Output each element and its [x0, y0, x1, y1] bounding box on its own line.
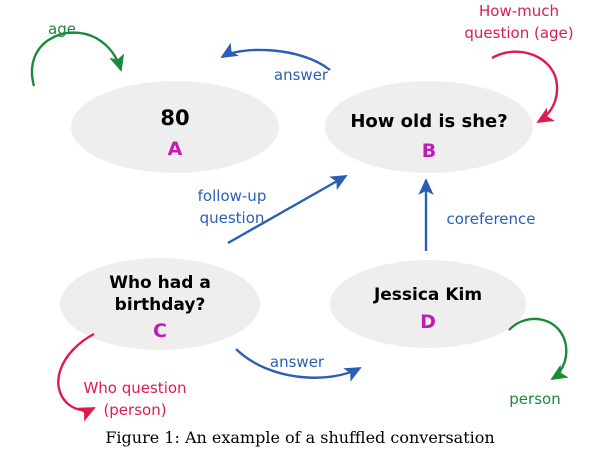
node-D-id: D: [420, 311, 436, 333]
node-C-label-line1: Who had a: [109, 273, 211, 293]
edge-answer-b-to-a: answer: [222, 50, 330, 84]
node-B[interactable]: How old is she? B: [325, 81, 533, 173]
node-B-label: How old is she?: [350, 111, 507, 132]
self-loop-A-age: age: [32, 20, 121, 86]
self-loop-D-person: person: [509, 319, 566, 408]
node-B-id: B: [422, 140, 436, 162]
self-loop-D-label: person: [509, 390, 560, 408]
node-D[interactable]: Jessica Kim D: [330, 260, 526, 348]
self-loop-D-path: [509, 319, 566, 379]
self-loop-C-path: [58, 334, 94, 410]
conversation-graph-diagram: 80 A How old is she? B Who had a birthda…: [0, 0, 600, 464]
self-loop-B-label-line2: question (age): [464, 24, 573, 42]
node-A[interactable]: 80 A: [71, 81, 279, 173]
edge-followup-label-line2: question: [200, 209, 265, 227]
self-loop-B-label-line1: How-much: [479, 2, 559, 20]
node-C-label-line2: birthday?: [115, 295, 206, 315]
node-C-id: C: [153, 320, 167, 342]
node-A-id: A: [168, 138, 183, 160]
edge-answer-c-to-d: answer: [236, 349, 360, 378]
self-loop-C-label-line2: (person): [103, 401, 166, 419]
self-loop-C-label-line1: Who question: [83, 379, 186, 397]
edge-answer-b-to-a-label: answer: [274, 66, 329, 84]
self-loop-A-path: [32, 33, 121, 86]
edge-followup-c-to-b: follow-up question: [198, 176, 346, 243]
self-loop-A-label: age: [48, 20, 76, 38]
figure-caption: Figure 1: An example of a shuffled conve…: [0, 428, 600, 447]
figure-container: 80 A How old is she? B Who had a birthda…: [0, 0, 600, 464]
edge-followup-label-line1: follow-up: [198, 187, 267, 205]
node-D-label: Jessica Kim: [373, 285, 482, 305]
edge-coreference-label: coreference: [446, 210, 535, 228]
node-A-label: 80: [160, 106, 189, 130]
edge-answer-c-to-d-label: answer: [270, 353, 325, 371]
edge-coreference-d-to-b: coreference: [426, 180, 536, 251]
